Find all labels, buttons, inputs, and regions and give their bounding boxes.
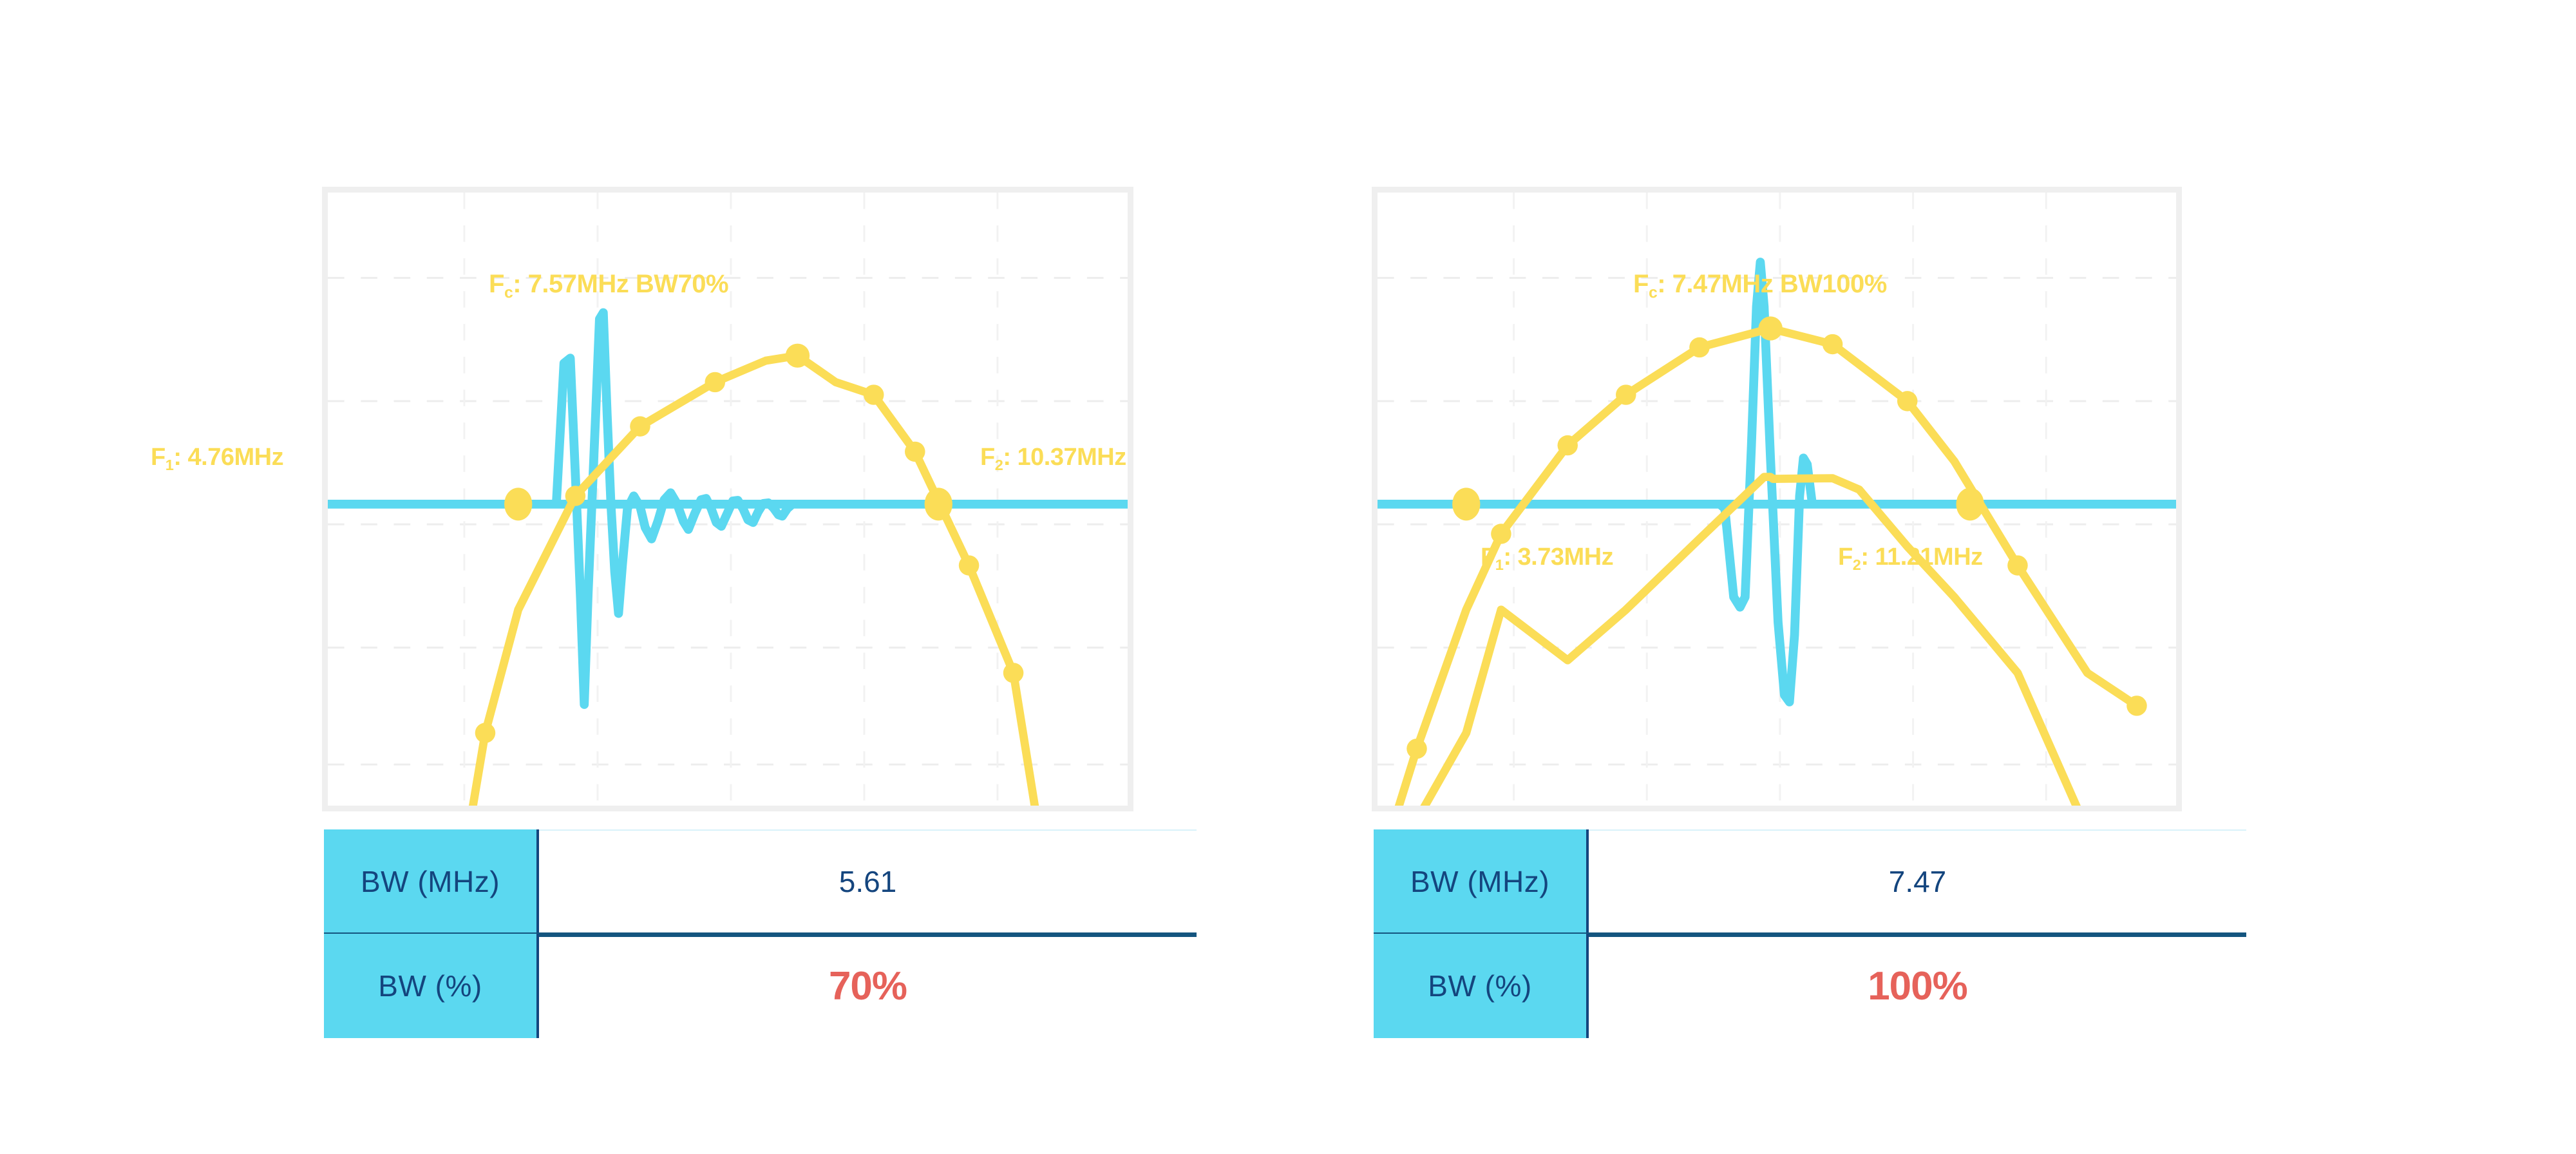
table-header-label: BW (MHz): [361, 864, 500, 899]
f2-subscript: 2: [995, 457, 1003, 473]
f2-text: : 10.37MHz: [1003, 444, 1126, 471]
table-header-cell: BW (MHz): [324, 829, 539, 934]
fc-subscript: c: [1649, 285, 1657, 302]
fc-prefix: F: [1633, 270, 1649, 298]
table-value-cell: 100%: [1589, 934, 2246, 1038]
table-header-cell: BW (%): [1374, 934, 1589, 1038]
waveform-trace-left: [328, 312, 1128, 704]
table-row: BW (MHz) 7.47: [1374, 829, 2246, 934]
fc-subscript: c: [504, 285, 513, 302]
fc-prefix: F: [489, 270, 504, 298]
upper-frequency-label-right: F2: 11.21MHz: [1838, 544, 1983, 574]
table-header-label: BW (%): [1428, 969, 1531, 1003]
fc-text: : 7.47MHz BW100%: [1657, 270, 1887, 298]
fc-text: : 7.57MHz BW70%: [513, 270, 728, 298]
spectrum-chart-right: Fc: 7.47MHz BW100% F1: 3.73MHz F2: 11.21…: [1372, 187, 2182, 811]
f2-subscript: 2: [1853, 556, 1861, 573]
f1-prefix: F: [1481, 544, 1495, 571]
f1-text: : 4.76MHz: [173, 444, 283, 471]
upper-frequency-label-left: F2: 10.37MHz: [980, 444, 1126, 474]
f1-subscript: 1: [1495, 556, 1504, 573]
table-value-cell: 5.61: [539, 829, 1197, 934]
table-value-text: 70%: [829, 963, 907, 1009]
table-value-cell: 7.47: [1589, 829, 2246, 934]
table-value-text: 7.47: [1889, 864, 1947, 899]
lower-frequency-label-left: F1: 4.76MHz: [151, 444, 283, 474]
table-value-text: 100%: [1868, 963, 1967, 1009]
table-header-label: BW (%): [378, 969, 482, 1003]
figure-canvas: Fc: 7.57MHz BW70% F1: 4.76MHz F2: 10.37M…: [0, 0, 2576, 1154]
panel-left: Fc: 7.57MHz BW70% F1: 4.76MHz F2: 10.37M…: [322, 0, 1224, 1154]
panel-right: Fc: 7.47MHz BW100% F1: 3.73MHz F2: 11.21…: [1372, 0, 2273, 1154]
bandwidth-table-left: BW (MHz) 5.61 BW (%) 70%: [324, 829, 1197, 1038]
center-frequency-label-left: Fc: 7.57MHz BW70%: [489, 270, 728, 303]
f2-prefix: F: [1838, 544, 1853, 571]
f1-prefix: F: [151, 444, 166, 471]
center-frequency-label-right: Fc: 7.47MHz BW100%: [1633, 270, 1887, 303]
table-row: BW (MHz) 5.61: [324, 829, 1197, 934]
spectrum-trace-left: [469, 344, 1039, 806]
table-header-label: BW (MHz): [1410, 864, 1549, 899]
f2-prefix: F: [980, 444, 995, 471]
table-value-cell: 70%: [539, 934, 1197, 1038]
table-header-cell: BW (MHz): [1374, 829, 1589, 934]
table-row: BW (%) 70%: [324, 934, 1197, 1038]
f2-text: : 11.21MHz: [1861, 544, 1982, 571]
f1-text: : 3.73MHz: [1503, 544, 1613, 571]
lower-frequency-label-right: F1: 3.73MHz: [1481, 544, 1613, 574]
table-header-cell: BW (%): [324, 934, 539, 1038]
spectrum-chart-left: Fc: 7.57MHz BW70% F1: 4.76MHz F2: 10.37M…: [322, 187, 1133, 811]
bandwidth-table-right: BW (MHz) 7.47 BW (%) 100%: [1374, 829, 2246, 1038]
f1-subscript: 1: [166, 457, 174, 473]
table-value-text: 5.61: [839, 864, 897, 899]
table-row: BW (%) 100%: [1374, 934, 2246, 1038]
